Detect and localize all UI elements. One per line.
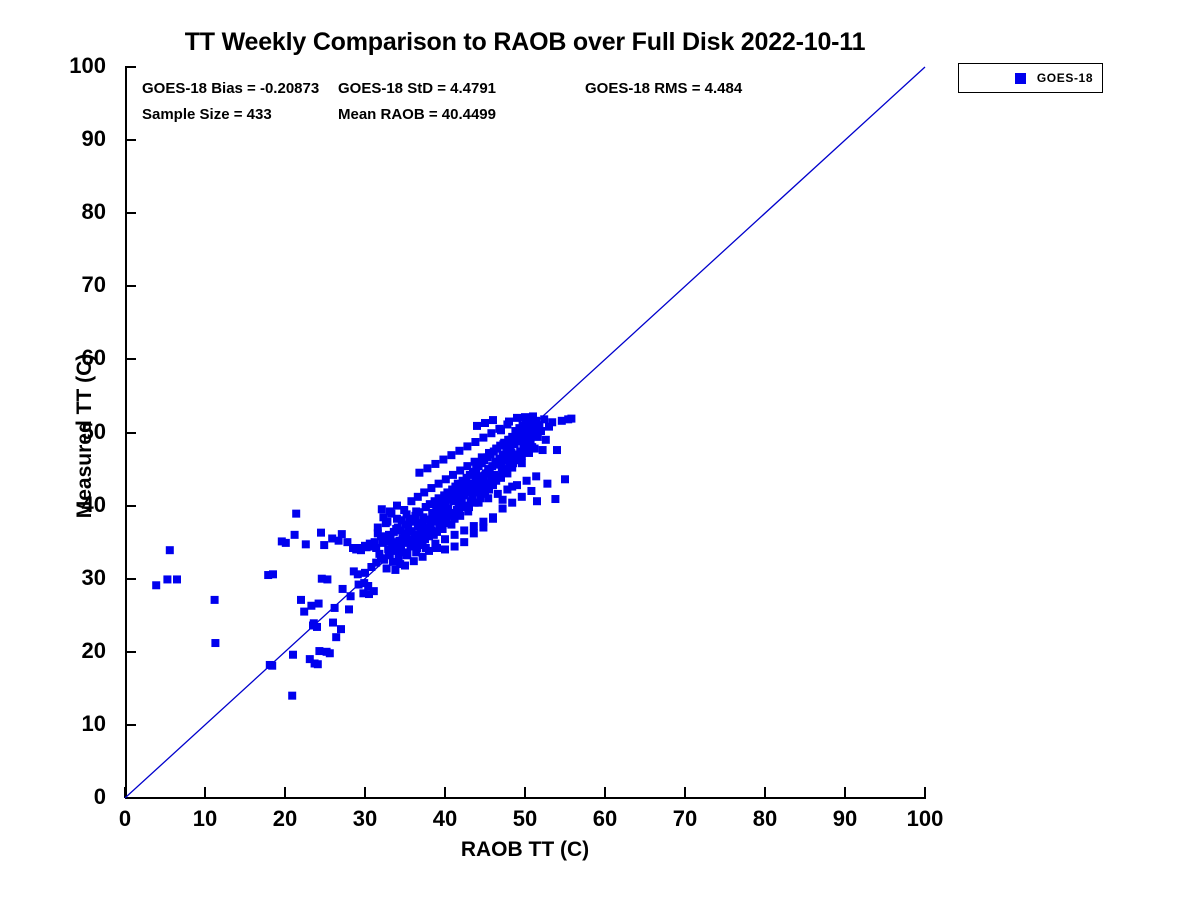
data-point [530,430,538,438]
x-tick-label: 50 [490,806,560,832]
y-tick-mark [125,139,136,141]
data-point [415,469,423,477]
data-point [391,566,399,574]
data-point [470,529,478,537]
data-point [508,464,516,472]
page-title: TT Weekly Comparison to RAOB over Full D… [125,28,925,57]
data-point [399,548,407,556]
data-point [518,459,526,467]
data-point [491,471,499,479]
data-point [395,546,403,554]
x-tick-mark [364,787,366,798]
data-point [400,506,408,514]
data-point [370,587,378,595]
data-point [524,423,532,431]
data-point [471,499,479,507]
data-point [455,490,463,498]
stat-bias: GOES-18 Bias = -0.20873 [142,80,319,97]
data-point [470,481,478,489]
stat-mean-raob: Mean RAOB = 40.4499 [338,106,496,123]
data-point [332,633,340,641]
data-point [531,424,539,432]
data-point [515,437,523,445]
data-point [483,480,491,488]
data-point [374,529,382,537]
data-point [475,478,483,486]
data-point [451,531,459,539]
data-point [479,518,487,526]
data-point [451,483,459,491]
data-point [479,434,487,442]
data-point [430,531,438,539]
data-point [380,556,388,564]
data-point [396,526,404,534]
data-point [505,452,513,460]
data-point [459,477,467,485]
data-point [491,458,499,466]
data-point [393,515,401,523]
data-point [441,513,449,521]
data-point [427,526,435,534]
data-point [416,538,424,546]
data-point [492,477,500,485]
data-point [355,581,363,589]
data-point [421,535,429,543]
y-tick-mark [125,505,136,507]
data-point [523,439,531,447]
data-point [451,490,459,498]
data-point [439,507,447,515]
x-tick-mark [524,787,526,798]
data-point [490,448,498,456]
data-point [422,503,430,511]
data-point [422,503,430,511]
x-axis-label: RAOB TT (C) [125,838,925,862]
data-point [397,545,405,553]
data-point [468,493,476,501]
data-point [383,537,391,545]
data-point [377,554,385,562]
data-point [553,446,561,454]
x-tick-label: 60 [570,806,640,832]
data-point [366,540,374,548]
data-point [339,585,347,593]
data-point [489,515,497,523]
data-point [474,481,482,489]
data-point [499,468,507,476]
data-point [460,486,468,494]
y-tick-mark [125,285,136,287]
data-point [479,474,487,482]
data-point [453,506,461,514]
data-point [354,570,362,578]
data-point [323,575,331,583]
data-point [433,528,441,536]
x-tick-label: 10 [170,806,240,832]
data-point [503,420,511,428]
data-point [450,497,458,505]
data-point [422,544,430,552]
data-point [505,418,513,426]
data-point [479,477,487,485]
data-point [459,503,467,511]
data-point [485,486,493,494]
data-point [328,534,336,542]
data-point [441,494,449,502]
data-point [448,486,456,494]
data-point [467,497,475,505]
data-point [537,427,545,435]
data-point [410,540,418,548]
data-point [492,445,500,453]
y-tick-mark [125,724,136,726]
data-point [394,524,402,532]
data-point [527,436,535,444]
data-point [282,539,290,547]
data-point [428,509,436,517]
data-point [446,512,454,520]
data-point [486,467,494,475]
data-point [345,605,353,613]
data-point [409,518,417,526]
data-point [535,421,543,429]
data-point [503,446,511,454]
data-point [424,515,432,523]
data-point [472,465,480,473]
legend-marker-goes-18-icon [1015,73,1026,84]
data-point [487,450,495,458]
one-to-one-reference-line [125,67,925,798]
data-point [423,524,431,532]
data-point [395,537,403,545]
y-tick-mark [125,66,136,68]
x-tick-mark [764,787,766,798]
data-point [489,416,497,424]
data-point [387,510,395,518]
data-point [278,537,286,545]
data-point [289,651,297,659]
data-point [561,475,569,483]
data-point [517,434,525,442]
data-point [463,462,471,470]
stat-sample-size: Sample Size = 433 [142,106,272,123]
data-point [329,619,337,627]
data-point [403,551,411,559]
data-point [374,524,382,532]
data-point [519,442,527,450]
data-point [475,499,483,507]
data-point [481,490,489,498]
x-tick-label: 40 [410,806,480,832]
data-point [431,518,439,526]
data-point [415,508,423,516]
data-point [407,543,415,551]
data-point [361,569,369,577]
series-goes-18 [152,412,575,699]
data-point [363,543,371,551]
data-point [482,469,490,477]
data-point [211,596,219,604]
x-tick-label: 100 [890,806,960,832]
x-tick-label: 70 [650,806,720,832]
data-point [510,453,518,461]
data-point [365,590,373,598]
data-point [473,488,481,496]
data-point [564,415,572,423]
data-point [457,487,465,495]
data-point [451,515,459,523]
stat-rms: GOES-18 RMS = 4.484 [585,80,742,97]
data-point [444,505,452,513]
data-point [385,531,393,539]
y-tick-mark [125,212,136,214]
data-point [567,415,575,423]
data-point [433,544,441,552]
data-point [391,538,399,546]
data-point [460,538,468,546]
data-point [426,500,434,508]
data-point [462,502,470,510]
data-point [357,546,365,554]
data-point [495,455,503,463]
data-point [500,439,508,447]
data-point [437,516,445,524]
data-point [423,464,431,472]
data-point [451,543,459,551]
data-point [499,468,507,476]
data-point [475,462,483,470]
data-point [447,496,455,504]
data-point [506,462,514,470]
data-point [456,512,464,520]
data-point [507,436,515,444]
data-point [436,516,444,524]
data-point [503,469,511,477]
data-point [548,418,556,426]
data-point [408,536,416,544]
data-point [268,662,276,670]
data-point [309,621,317,629]
data-point [533,497,541,505]
data-point [503,486,511,494]
data-point [508,433,516,441]
data-point [471,458,479,466]
data-point [297,596,305,604]
data-point [399,534,407,542]
data-point [352,545,360,553]
data-point [539,446,547,454]
data-point [311,659,319,667]
x-tick-label: 80 [730,806,800,832]
data-point [266,661,274,669]
data-point [467,480,475,488]
data-point [529,420,537,428]
data-point [320,541,328,549]
data-point [483,453,491,461]
data-point [487,475,495,483]
data-point [499,496,507,504]
data-point [386,551,394,559]
data-point [527,487,535,495]
data-point [442,502,450,510]
data-point [465,484,473,492]
data-point [480,456,488,464]
data-point [528,423,536,431]
data-point [411,530,419,538]
data-point [436,503,444,511]
data-point [519,421,527,429]
data-point [471,475,479,483]
data-point [441,535,449,543]
data-point [431,460,439,468]
data-point [525,449,533,457]
x-tick-mark [604,787,606,798]
data-point [361,542,369,550]
data-point [211,639,219,647]
data-point [349,544,357,552]
data-point [514,456,522,464]
legend-box: GOES-18 [958,63,1103,93]
data-point [367,541,375,549]
data-point [455,500,463,508]
data-point [435,522,443,530]
data-point [523,431,531,439]
data-point [403,550,411,558]
data-point [469,468,477,476]
data-point [478,459,486,467]
data-point [331,604,339,612]
data-point [315,600,323,608]
data-point [440,491,448,499]
data-point [522,418,530,426]
data-point [317,529,325,537]
data-point [476,494,484,502]
data-point [390,528,398,536]
data-point [288,692,296,700]
data-point [414,522,422,530]
data-point [350,567,358,575]
data-point [488,462,496,470]
data-point [443,519,451,527]
data-point [388,540,396,548]
data-point [499,450,507,458]
data-point [387,534,395,542]
data-point [499,505,507,513]
data-point [532,472,540,480]
data-point [495,425,503,433]
data-point [406,515,414,523]
data-point [447,451,455,459]
data-point [398,516,406,524]
data-point [166,546,174,554]
data-point [513,481,521,489]
data-point [508,483,516,491]
data-point [389,558,397,566]
data-point [395,553,403,561]
data-point [460,526,468,534]
data-point [337,625,345,633]
data-point [381,535,389,543]
data-point [386,507,394,515]
data-point [438,499,446,507]
data-point [291,531,299,539]
data-point [504,436,512,444]
x-tick-mark [924,787,926,798]
data-point [418,528,426,536]
data-point [360,579,368,587]
data-point [514,431,522,439]
data-point [415,531,423,539]
data-point [391,547,399,555]
data-point [347,592,355,600]
data-point [402,521,410,529]
data-point [427,521,435,529]
data-point [384,545,392,553]
data-point [292,510,300,518]
data-point [532,417,540,425]
data-point [452,494,460,502]
data-point [306,655,314,663]
data-point [410,557,418,565]
x-tick-mark [444,787,446,798]
data-point [497,474,505,482]
y-tick-mark [125,797,136,799]
data-point [466,471,474,479]
data-point [502,465,510,473]
data-point [343,538,351,546]
data-point [364,582,372,590]
data-point [520,429,528,437]
y-tick-mark [125,432,136,434]
x-tick-mark [204,787,206,798]
data-point [540,415,548,423]
data-point [449,471,457,479]
data-point [419,513,427,521]
data-point [526,415,534,423]
data-point [493,445,501,453]
data-point [429,515,437,523]
data-point [484,494,492,502]
data-point [527,426,535,434]
data-point [163,575,171,583]
data-point [372,544,380,552]
data-point [379,513,387,521]
data-point [417,519,425,527]
data-point [375,550,383,558]
data-point [477,472,485,480]
data-point [443,488,451,496]
data-point [435,494,443,502]
data-point [499,440,507,448]
data-point [521,446,529,454]
data-point [313,623,321,631]
data-point [439,525,447,533]
data-point [531,445,539,453]
data-point [435,480,443,488]
data-point [551,495,559,503]
data-point [463,442,471,450]
data-point [507,443,515,451]
data-point [543,480,551,488]
data-point [405,537,413,545]
data-point [463,488,471,496]
data-point [523,477,531,485]
data-point [465,503,473,511]
data-point [470,522,478,530]
data-point [494,461,502,469]
x-tick-mark [684,787,686,798]
data-point [545,423,553,431]
